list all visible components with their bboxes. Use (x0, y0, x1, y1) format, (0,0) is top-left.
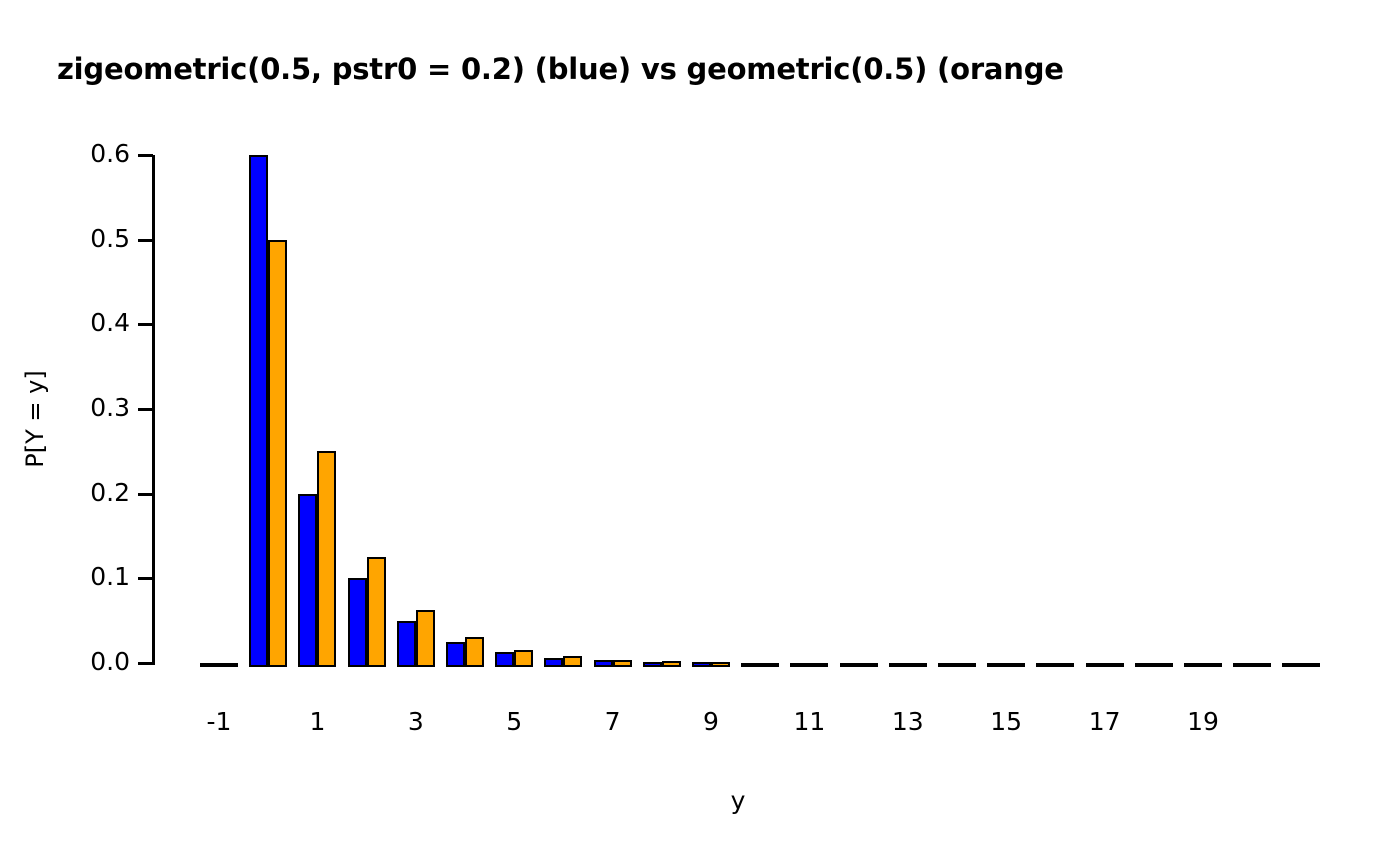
x-axis-tick-label: 7 (578, 707, 648, 736)
bar-blue-series (692, 662, 711, 667)
bar-blue-series (544, 658, 563, 667)
bar-orange-series (1301, 663, 1320, 667)
bar-blue-series (348, 578, 367, 667)
chart-page: zigeometric(0.5, pstr0 = 0.2) (blue) vs … (0, 0, 1400, 866)
bar-orange-series (809, 663, 828, 667)
y-axis-tick-label: 0.5 (30, 224, 130, 253)
bar-orange-series (465, 637, 484, 667)
bar-blue-series (1282, 663, 1301, 667)
bar-orange-series (711, 662, 730, 667)
bar-orange-series (1105, 663, 1124, 667)
x-axis-tick-label: 15 (971, 707, 1041, 736)
bar-blue-series (200, 663, 219, 667)
bar-blue-series (987, 663, 1006, 667)
bar-blue-series (889, 663, 908, 667)
bar-orange-series (957, 663, 976, 667)
y-axis-tick-label: 0.1 (30, 562, 130, 591)
y-axis-tick (138, 493, 153, 496)
bar-orange-series (416, 610, 435, 667)
y-axis-tick-label: 0.0 (30, 647, 130, 676)
y-axis-tick (138, 408, 153, 411)
bar-blue-series (1233, 663, 1252, 667)
y-axis-title: P[Y = y] (21, 349, 49, 489)
x-axis-tick-label: 3 (381, 707, 451, 736)
bar-orange-series (859, 663, 878, 667)
x-axis-tick-label: 9 (676, 707, 746, 736)
bar-blue-series (249, 155, 268, 667)
bar-orange-series (613, 660, 632, 667)
y-axis-tick-label: 0.6 (30, 139, 130, 168)
bar-orange-series (1006, 663, 1025, 667)
y-axis-tick (138, 239, 153, 242)
bar-orange-series (268, 240, 287, 667)
bar-orange-series (219, 663, 238, 667)
bar-orange-series (1055, 663, 1074, 667)
bar-orange-series (760, 663, 779, 667)
bar-blue-series (1036, 663, 1055, 667)
bar-orange-series (662, 661, 681, 667)
bar-blue-series (594, 660, 613, 667)
bar-blue-series (840, 663, 859, 667)
bar-blue-series (1086, 663, 1105, 667)
x-axis-tick-label: 19 (1168, 707, 1238, 736)
bar-orange-series (1154, 663, 1173, 667)
bar-blue-series (298, 494, 317, 667)
y-axis-tick-label: 0.4 (30, 308, 130, 337)
y-axis-tick (138, 154, 153, 157)
plot-area: 0.00.10.20.30.40.50.6 P[Y = y] -11357911… (0, 0, 1400, 866)
bar-orange-series (514, 650, 533, 667)
bar-blue-series (938, 663, 957, 667)
x-axis-tick-label: 13 (873, 707, 943, 736)
bar-orange-series (563, 656, 582, 667)
bar-orange-series (1252, 663, 1271, 667)
bar-blue-series (643, 662, 662, 667)
bar-blue-series (790, 663, 809, 667)
x-axis-tick-label: 17 (1070, 707, 1140, 736)
bar-orange-series (908, 663, 927, 667)
bar-orange-series (1203, 663, 1222, 667)
bar-blue-series (397, 621, 416, 667)
x-axis-title: y (688, 786, 788, 815)
y-axis-tick (138, 323, 153, 326)
bar-orange-series (367, 557, 386, 667)
bar-blue-series (741, 663, 760, 667)
x-axis-tick-label: 5 (479, 707, 549, 736)
bar-blue-series (495, 652, 514, 667)
y-axis-tick (138, 662, 153, 665)
bar-blue-series (446, 642, 465, 667)
x-axis-tick-label: 1 (282, 707, 352, 736)
bar-orange-series (317, 451, 336, 667)
y-axis-tick (138, 577, 153, 580)
bar-blue-series (1184, 663, 1203, 667)
x-axis-tick-label: -1 (184, 707, 254, 736)
bar-blue-series (1135, 663, 1154, 667)
x-axis-tick-label: 11 (774, 707, 844, 736)
